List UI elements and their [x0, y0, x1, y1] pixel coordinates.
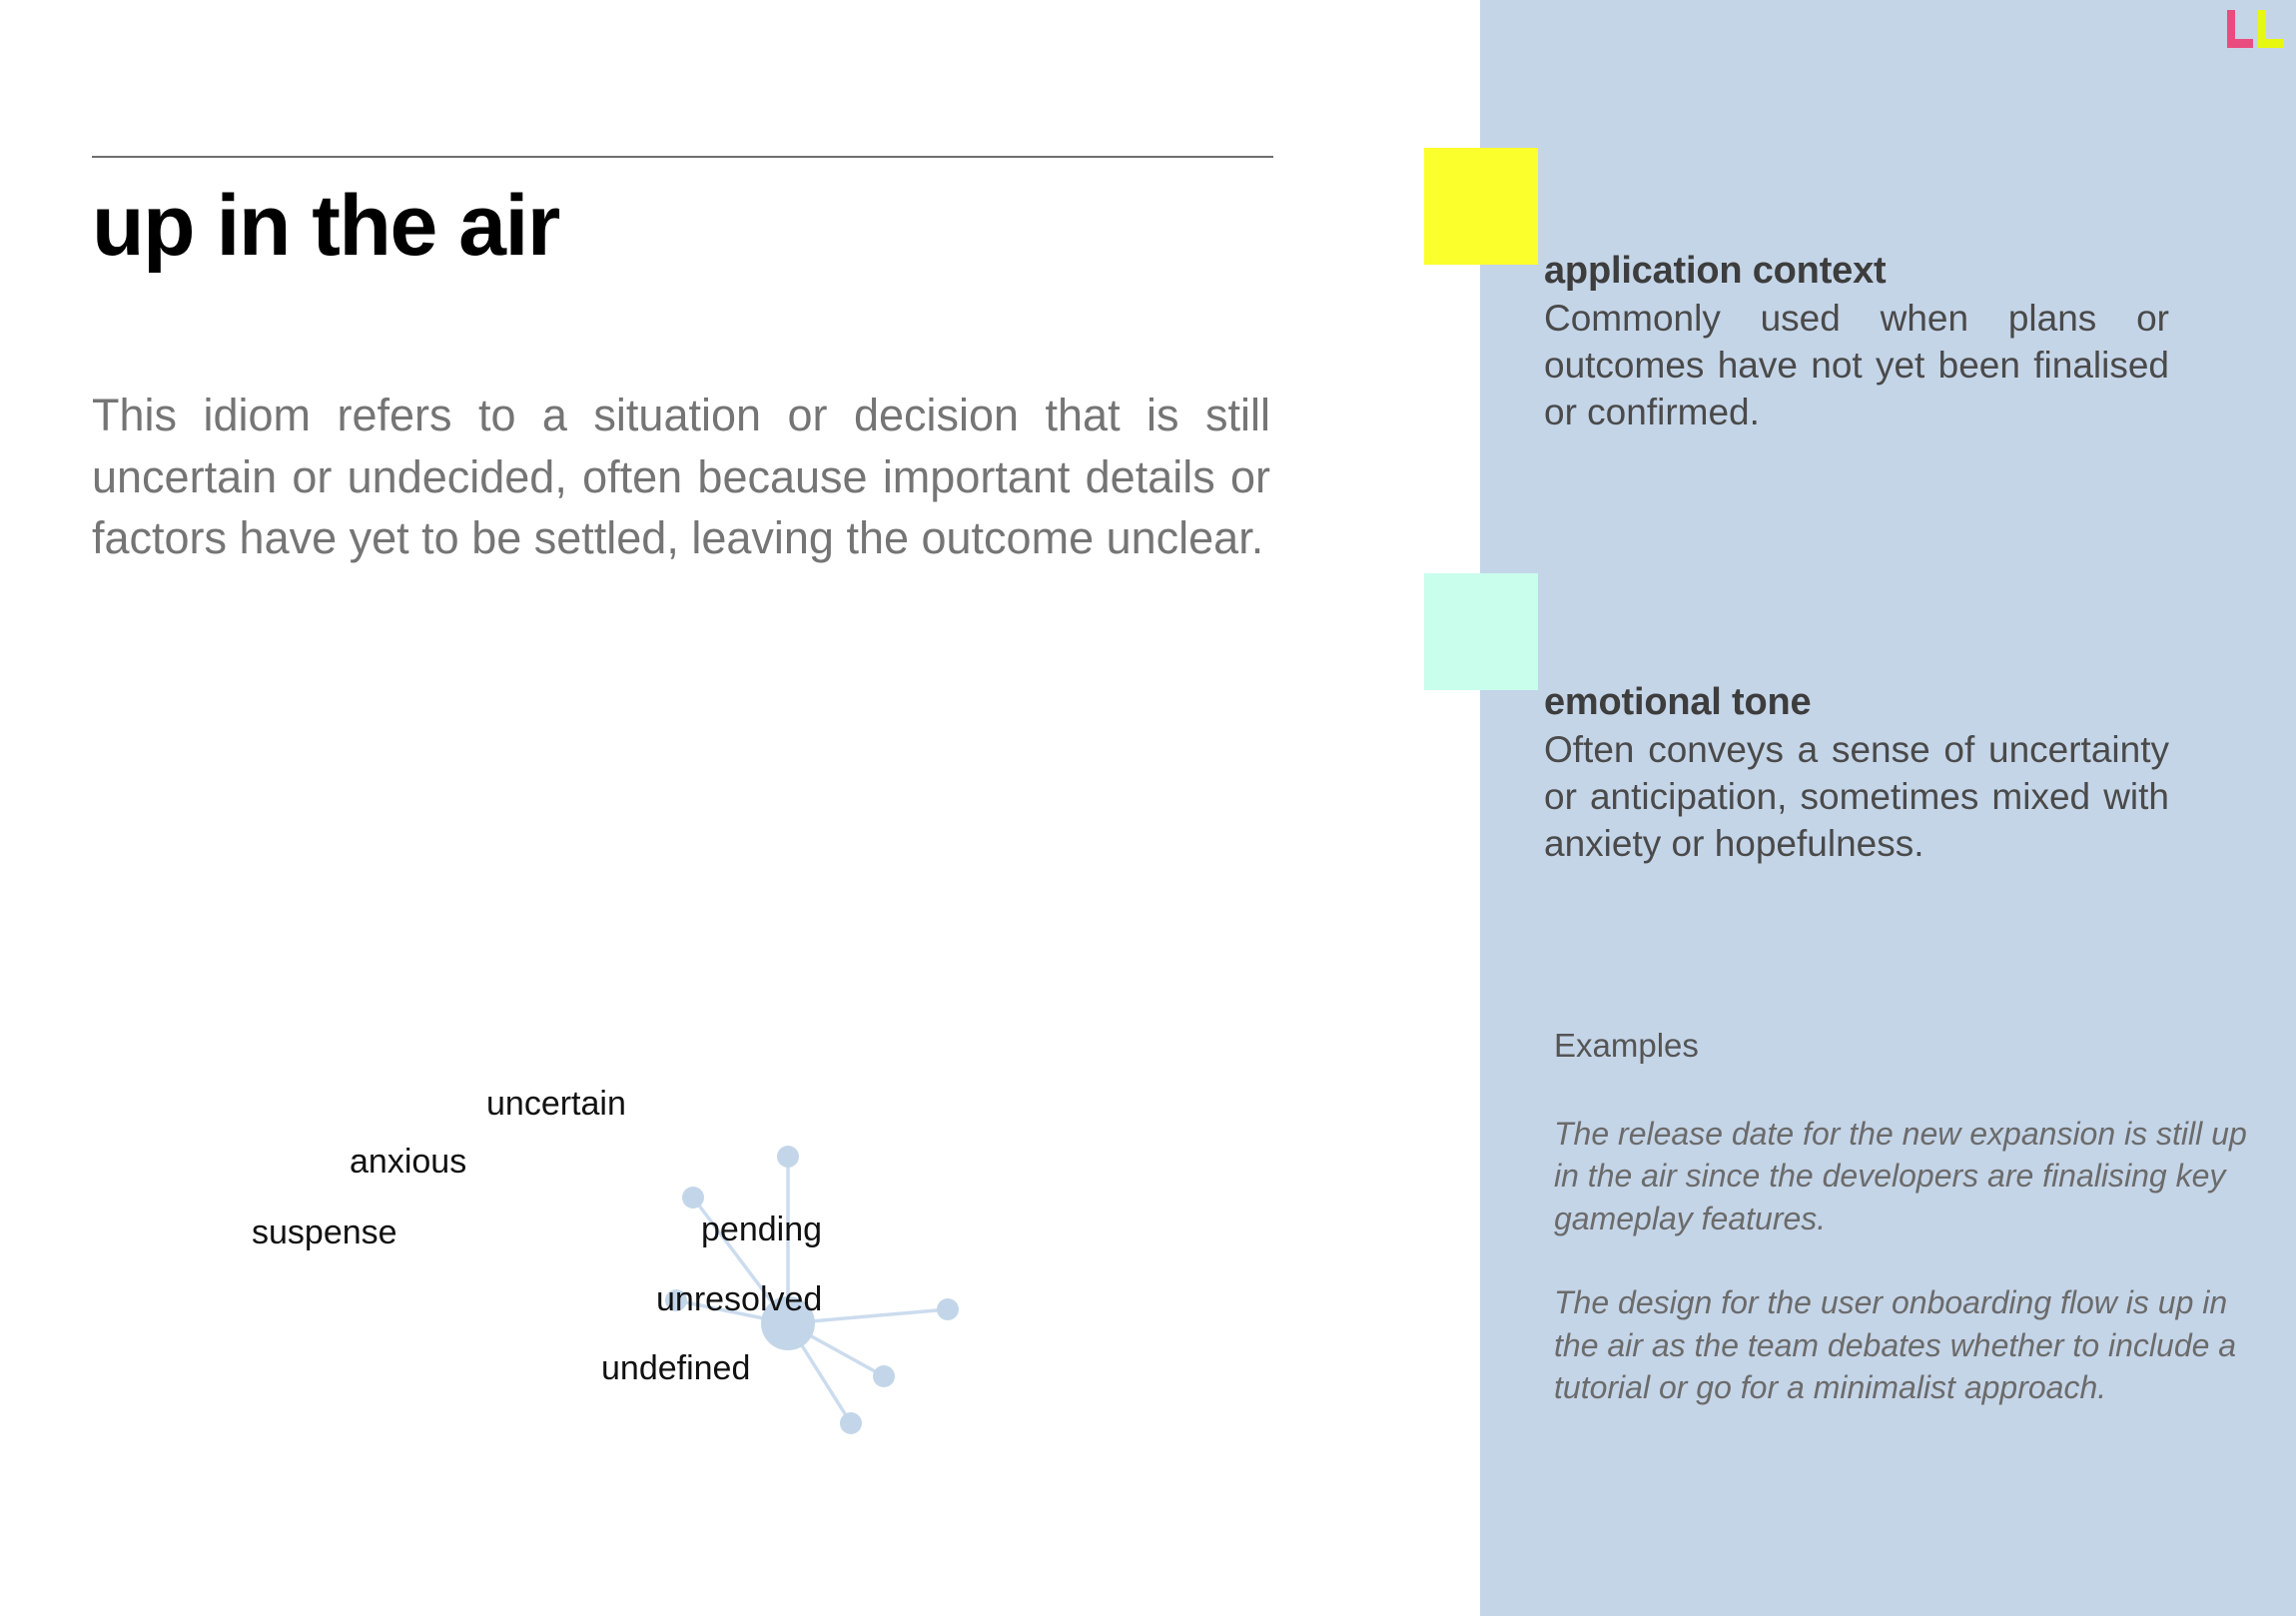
title-divider-rule — [92, 156, 1273, 158]
network-label-anxious: anxious — [350, 1145, 466, 1179]
idiom-definition-paragraph: This idiom refers to a situation or deci… — [92, 385, 1270, 569]
application-context-body: Commonly used when plans or outcomes hav… — [1544, 296, 2169, 435]
examples-title: Examples — [1554, 1026, 2253, 1066]
network-label-pending: pending — [701, 1213, 822, 1246]
main-content-column: up in the air This idiom refers to a sit… — [92, 0, 1280, 1623]
example-sentence: The design for the user onboarding flow … — [1554, 1281, 2253, 1409]
emotional-tone-body: Often conveys a sense of uncertainty or … — [1544, 727, 2169, 867]
network-node-pending[interactable] — [937, 1298, 959, 1320]
network-graph-svg — [272, 1049, 1290, 1488]
logo-pink-horizontal-stroke — [2227, 39, 2253, 48]
network-label-undefined: undefined — [601, 1351, 750, 1385]
page-title: up in the air — [92, 178, 559, 274]
network-label-unresolved: unresolved — [656, 1282, 822, 1316]
logo-letter-l-yellow-icon — [2258, 10, 2284, 48]
mint-swatch — [1424, 573, 1538, 690]
network-node-anxious[interactable] — [682, 1187, 704, 1209]
examples-section: Examples The release date for the new ex… — [1554, 1026, 2253, 1409]
network-node-unresolved[interactable] — [873, 1365, 895, 1387]
application-context-block: application context Commonly used when p… — [1544, 248, 2169, 435]
network-label-uncertain: uncertain — [486, 1087, 626, 1121]
emotional-tone-block: emotional tone Often conveys a sense of … — [1544, 679, 2169, 867]
brand-logo — [2227, 10, 2285, 50]
network-node-uncertain[interactable] — [777, 1146, 799, 1168]
application-context-heading: application context — [1544, 248, 2169, 294]
network-label-suspense: suspense — [252, 1216, 397, 1249]
slide-page: up in the air This idiom refers to a sit… — [0, 0, 2296, 1623]
logo-yellow-horizontal-stroke — [2258, 39, 2284, 48]
emotional-tone-heading: emotional tone — [1544, 679, 2169, 725]
related-terms-network-diagram: uncertainanxioussuspensependingunresolve… — [272, 1049, 1290, 1488]
example-sentence: The release date for the new expansion i… — [1554, 1113, 2253, 1240]
logo-letter-l-pink-icon — [2227, 10, 2253, 48]
yellow-swatch — [1424, 148, 1538, 265]
network-node-undefined[interactable] — [840, 1412, 862, 1434]
